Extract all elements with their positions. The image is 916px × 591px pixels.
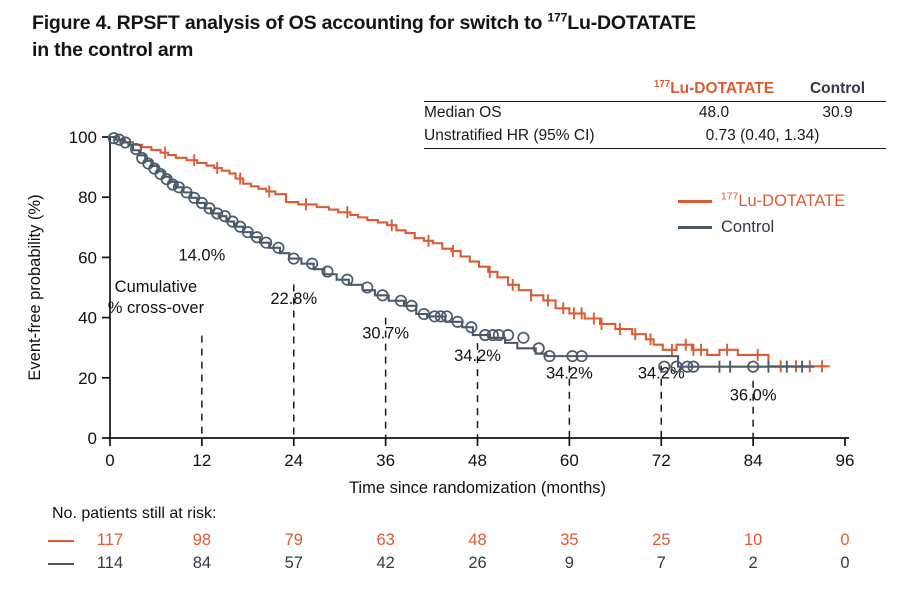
- crossover-label-24: 22.8%: [270, 290, 317, 308]
- legend-active-sup: 177: [721, 191, 738, 202]
- cumulative-label-line1: Cumulative: [115, 278, 198, 296]
- y-tick-label-0: 0: [88, 429, 97, 448]
- x-tick-label-72: 72: [652, 451, 671, 470]
- risk-value-control-48: 26: [456, 554, 500, 573]
- crossover-label-84: 36.0%: [730, 386, 777, 404]
- risk-value-active-24: 79: [272, 531, 316, 550]
- crossover-label-60: 34.2%: [546, 364, 593, 382]
- y-tick-label-100: 100: [69, 128, 97, 147]
- risk-value-control-24: 57: [272, 554, 316, 573]
- risk-value-active-96: 0: [823, 531, 867, 550]
- legend-active-text: Lu-DOTATATE: [738, 192, 845, 210]
- risk-table-title: No. patients still at risk:: [52, 505, 217, 523]
- crossover-label-48: 34.2%: [454, 347, 501, 365]
- risk-value-active-84: 10: [731, 531, 775, 550]
- x-axis-title: Time since randomization (months): [349, 479, 606, 497]
- risk-swatch-active-icon: [48, 540, 74, 542]
- y-tick-label-80: 80: [78, 188, 97, 207]
- y-tick-label-20: 20: [78, 369, 97, 388]
- risk-value-control-96: 0: [823, 554, 867, 573]
- x-tick-label-60: 60: [560, 451, 579, 470]
- x-tick-label-0: 0: [105, 451, 114, 470]
- risk-value-control-84: 2: [731, 554, 775, 573]
- y-axis-title: Event-free probability (%): [26, 194, 44, 380]
- legend-item-active: 177Lu-DOTATATE: [678, 190, 845, 212]
- risk-value-control-60: 9: [547, 554, 591, 573]
- legend-swatch-control-icon: [678, 226, 712, 229]
- risk-value-active-60: 35: [547, 531, 591, 550]
- legend-item-control: Control: [678, 216, 845, 238]
- x-tick-label-36: 36: [376, 451, 395, 470]
- cumulative-label-line2: % cross-over: [108, 299, 205, 317]
- x-tick-label-96: 96: [836, 451, 855, 470]
- y-tick-label-40: 40: [78, 309, 97, 328]
- x-tick-label-24: 24: [284, 451, 303, 470]
- risk-value-control-72: 7: [639, 554, 683, 573]
- crossover-label-36: 30.7%: [362, 325, 409, 343]
- plot-legend: 177Lu-DOTATATE Control: [678, 190, 845, 242]
- legend-swatch-active-icon: [678, 200, 712, 203]
- risk-value-control-12: 84: [180, 554, 224, 573]
- x-tick-label-84: 84: [744, 451, 763, 470]
- risk-swatch-control-icon: [48, 563, 74, 565]
- risk-value-active-48: 48: [456, 531, 500, 550]
- risk-value-active-12: 98: [180, 531, 224, 550]
- risk-value-active-72: 25: [639, 531, 683, 550]
- km-plot: 01224364860728496Time since randomizatio…: [0, 0, 916, 591]
- risk-value-active-0: 117: [88, 531, 132, 550]
- x-tick-label-12: 12: [192, 451, 211, 470]
- y-tick-label-60: 60: [78, 248, 97, 267]
- crossover-marker-41: [518, 333, 528, 343]
- crossover-label-12: 14.0%: [178, 246, 225, 264]
- legend-label-control: Control: [721, 218, 774, 237]
- risk-value-control-36: 42: [364, 554, 408, 573]
- risk-value-active-36: 63: [364, 531, 408, 550]
- x-tick-label-48: 48: [468, 451, 487, 470]
- risk-value-control-0: 114: [88, 554, 132, 573]
- legend-label-active: 177Lu-DOTATATE: [721, 192, 845, 211]
